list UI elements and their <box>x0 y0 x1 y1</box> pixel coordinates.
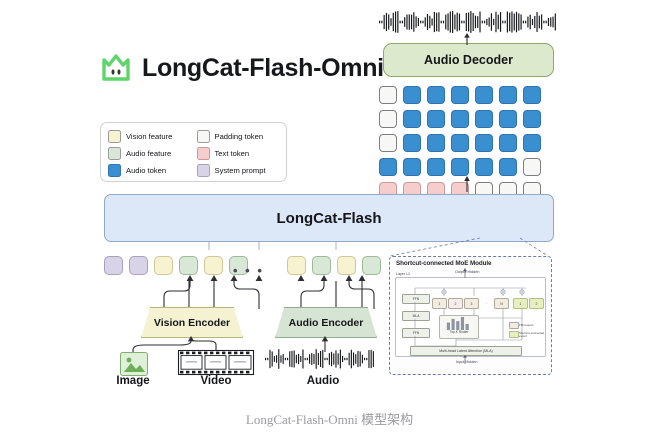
legend-item-vision-feature: Vision feature <box>108 130 191 143</box>
waveform-icon-input <box>265 349 375 369</box>
sequence-token-vision <box>287 256 306 275</box>
moe-router-label: Top-K Router <box>440 330 478 334</box>
grid-cell-audio <box>451 158 469 176</box>
moe-shortcut-expert-2: 2 <box>529 298 544 309</box>
longcat-logo-icon <box>100 52 132 84</box>
grid-cell-audio <box>523 86 541 104</box>
moe-input-arrow <box>460 355 470 364</box>
legend-label-audio-token: Audio token <box>126 166 166 175</box>
grid-cell-audio <box>403 134 421 152</box>
sequence-token-audio_feature <box>179 256 198 275</box>
moe-key-label-shortcut: Shortcut-connected expert <box>519 332 545 339</box>
sequence-token-audio_feature <box>362 256 381 275</box>
grid-cell-audio <box>451 134 469 152</box>
legend-swatch-padding-token <box>197 130 210 143</box>
moe-key-label-ffn: FFN expert <box>519 323 533 327</box>
figure-caption: LongCat-Flash-Omni 模型架构 <box>0 409 659 428</box>
legend-label-audio-feature: Audio feature <box>126 149 171 158</box>
grid-cell-audio <box>403 110 421 128</box>
input-label-audio: Audio <box>295 375 351 387</box>
legend-item-audio-token: Audio token <box>108 164 191 177</box>
grid-cell-audio <box>427 158 445 176</box>
grid-cell-padding <box>379 134 397 152</box>
sequence-token-system <box>104 256 123 275</box>
page-title-text: LongCat-Flash-Omni <box>142 54 384 83</box>
audio-decoder-label: Audio Decoder <box>424 53 513 67</box>
grid-cell-padding <box>379 110 397 128</box>
vision-encoder-label: Vision Encoder <box>154 317 230 329</box>
grid-cell-audio <box>427 86 445 104</box>
grid-cell-audio <box>475 110 493 128</box>
moe-output-arrow <box>460 268 470 278</box>
sequence-token-audio_feature <box>312 256 331 275</box>
backbone-label: LongCat-Flash <box>277 210 382 227</box>
sequence-token-vision <box>337 256 356 275</box>
grid-cell-audio <box>451 86 469 104</box>
token-to-backbone-arrows <box>96 240 386 250</box>
input-label-video: Video <box>186 375 246 387</box>
grid-cell-audio <box>499 134 517 152</box>
encoder-to-token-arrows <box>96 275 386 309</box>
moe-inset-title: Shortcut-connected MoE Module <box>396 260 491 267</box>
moe-key-swatch-ffn <box>509 322 519 329</box>
moe-expert-gap: - <box>480 298 493 307</box>
grid-cell-audio <box>523 134 541 152</box>
grid-cell-audio <box>475 158 493 176</box>
grid-cell-audio <box>403 86 421 104</box>
grid-cell-audio <box>499 86 517 104</box>
legend-swatch-audio-feature <box>108 147 121 160</box>
sequence-token-vision <box>154 256 173 275</box>
moe-shortcut-expert-1: 1 <box>513 298 528 309</box>
grid-cell-audio <box>427 110 445 128</box>
audio-encoder-box: Audio Encoder <box>275 307 377 338</box>
grid-cell-padding <box>379 86 397 104</box>
legend-item-text-token: Text token <box>197 147 280 160</box>
moe-inner-frame: FFN MLA FFN <box>395 277 546 357</box>
legend-swatch-vision-feature <box>108 130 121 143</box>
audio-decoder-box: Audio Decoder <box>383 43 554 77</box>
moe-expert-3: 3 <box>464 298 479 309</box>
legend-label-system-prompt: System prompt <box>215 166 266 175</box>
sequence-token-vision <box>204 256 223 275</box>
grid-cell-audio <box>499 110 517 128</box>
moe-layer-label: Layer i-1 <box>396 272 410 276</box>
moe-expert-2: 2 <box>448 298 463 309</box>
legend-swatch-system-prompt <box>197 164 210 177</box>
grid-cell-audio <box>451 110 469 128</box>
grid-cell-audio <box>379 158 397 176</box>
image-icon <box>120 352 148 376</box>
film-strip-icon <box>178 350 254 375</box>
grid-cell-audio <box>475 86 493 104</box>
grid-cell-padding <box>523 158 541 176</box>
backbone-to-decoder-arrow <box>460 176 474 192</box>
grid-cell-audio <box>523 110 541 128</box>
page-title: LongCat-Flash-Omni <box>100 52 384 84</box>
moe-expert-n: N <box>494 298 509 309</box>
audio-encoder-label: Audio Encoder <box>289 317 364 329</box>
legend: Vision feature Padding token Audio featu… <box>100 122 287 182</box>
sequence-token-system <box>129 256 148 275</box>
diagram-canvas: LongCat-Flash-Omni Vision feature Paddin… <box>0 0 659 440</box>
legend-item-system-prompt: System prompt <box>197 164 280 177</box>
legend-swatch-text-token <box>197 147 210 160</box>
waveform-icon-output <box>379 11 557 33</box>
legend-item-audio-feature: Audio feature <box>108 147 191 160</box>
legend-item-padding-token: Padding token <box>197 130 280 143</box>
moe-router-box: Top-K Router <box>439 315 479 339</box>
legend-label-text-token: Text token <box>215 149 250 158</box>
legend-label-vision-feature: Vision feature <box>126 132 172 141</box>
moe-key-swatch-shortcut <box>509 331 519 338</box>
grid-cell-audio <box>499 158 517 176</box>
vision-encoder-box: Vision Encoder <box>141 307 243 338</box>
moe-expert-1: 1 <box>432 298 447 309</box>
moe-callout-lines <box>380 238 555 260</box>
grid-cell-audio <box>427 134 445 152</box>
backbone-box: LongCat-Flash <box>104 194 554 242</box>
input-label-image: Image <box>108 375 158 387</box>
grid-cell-audio <box>403 158 421 176</box>
legend-label-padding-token: Padding token <box>215 132 264 141</box>
decoder-output-arrow <box>460 33 474 45</box>
legend-swatch-audio-token <box>108 164 121 177</box>
grid-cell-audio <box>475 134 493 152</box>
